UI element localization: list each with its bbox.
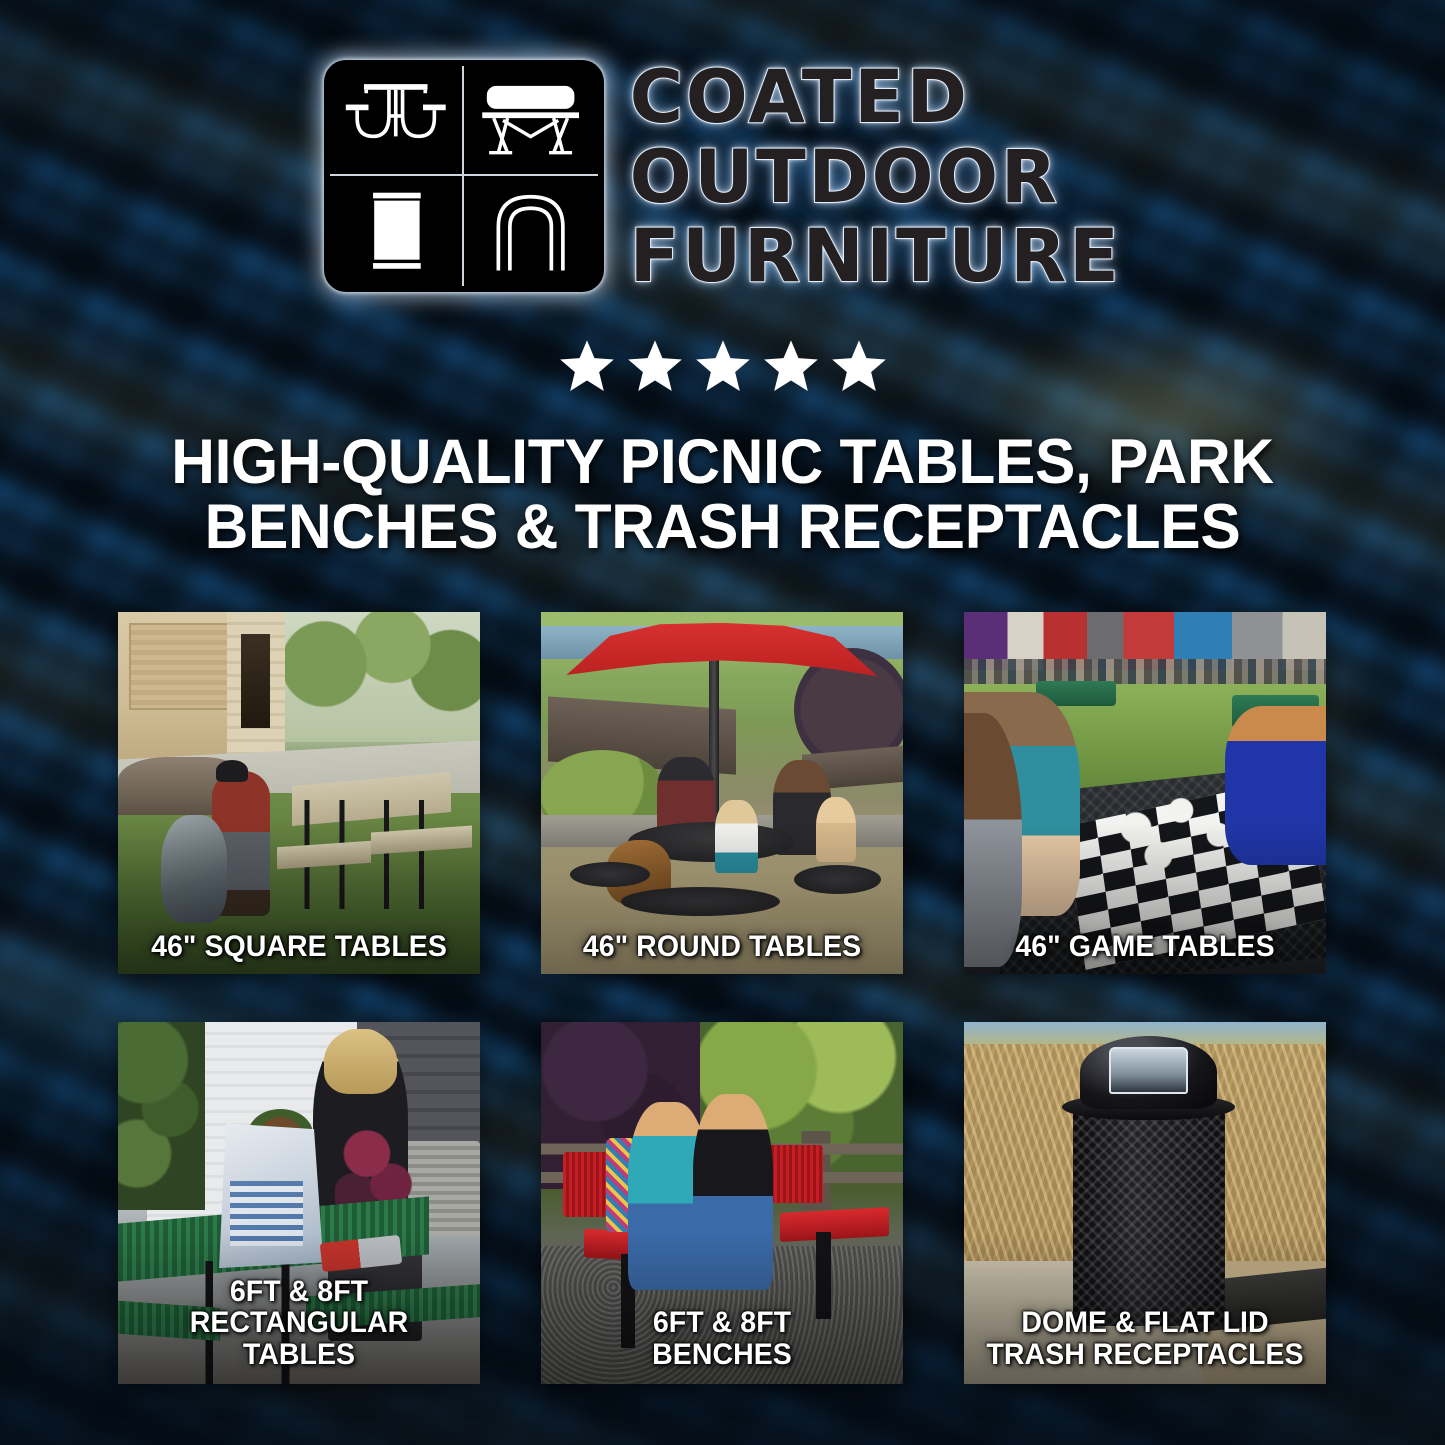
product-tile-caption: 46" ROUND TABLES	[556, 931, 889, 963]
star-rating	[0, 338, 1445, 394]
brand-wordmark: COATED OUTDOOR FURNITURE	[630, 60, 1122, 293]
brand-name-line-1: COATED	[630, 62, 1122, 134]
product-tile-square-tables[interactable]: 46" SQUARE TABLES	[118, 612, 480, 974]
star-icon	[830, 338, 888, 394]
star-icon	[694, 338, 752, 394]
product-tile-trash-receptacles[interactable]: DOME & FLAT LID TRASH RECEPTACLES	[964, 1022, 1326, 1384]
brand-name-line-3: FURNITURE	[630, 221, 1122, 293]
product-photo	[964, 612, 1326, 974]
star-icon	[558, 338, 616, 394]
product-tile-round-tables[interactable]: 46" ROUND TABLES	[541, 612, 903, 974]
brand-name-line-2: OUTDOOR	[630, 142, 1122, 214]
page-title: HIGH-QUALITY PICNIC TABLES, PARK BENCHES…	[29, 430, 1416, 560]
star-icon	[626, 338, 684, 394]
product-category-grid: 46" SQUARE TABLES	[118, 612, 1326, 1384]
star-icon	[762, 338, 820, 394]
product-photo	[118, 612, 480, 974]
logo-icon-grid	[324, 60, 604, 292]
product-tile-caption: 6FT & 8FT BENCHES	[556, 1307, 889, 1370]
promo-poster: COATED OUTDOOR FURNITURE HIGH-QUALITY PI…	[0, 0, 1445, 1445]
product-tile-rectangular-tables[interactable]: 6FT & 8FT RECTANGULAR TABLES	[118, 1022, 480, 1384]
product-tile-game-tables[interactable]: 46" GAME TABLES	[964, 612, 1326, 974]
trash-receptacle-icon	[330, 176, 464, 286]
picnic-table-icon	[330, 66, 464, 176]
bike-rack-arch-icon	[464, 176, 598, 286]
park-bench-icon	[464, 66, 598, 176]
product-tile-caption: 46" GAME TABLES	[979, 931, 1312, 963]
brand-logo: COATED OUTDOOR FURNITURE	[0, 60, 1445, 293]
product-tile-benches[interactable]: 6FT & 8FT BENCHES	[541, 1022, 903, 1384]
product-photo	[541, 612, 903, 974]
product-tile-caption: 46" SQUARE TABLES	[133, 931, 466, 963]
product-tile-caption: 6FT & 8FT RECTANGULAR TABLES	[133, 1276, 466, 1371]
product-tile-caption: DOME & FLAT LID TRASH RECEPTACLES	[979, 1307, 1312, 1370]
